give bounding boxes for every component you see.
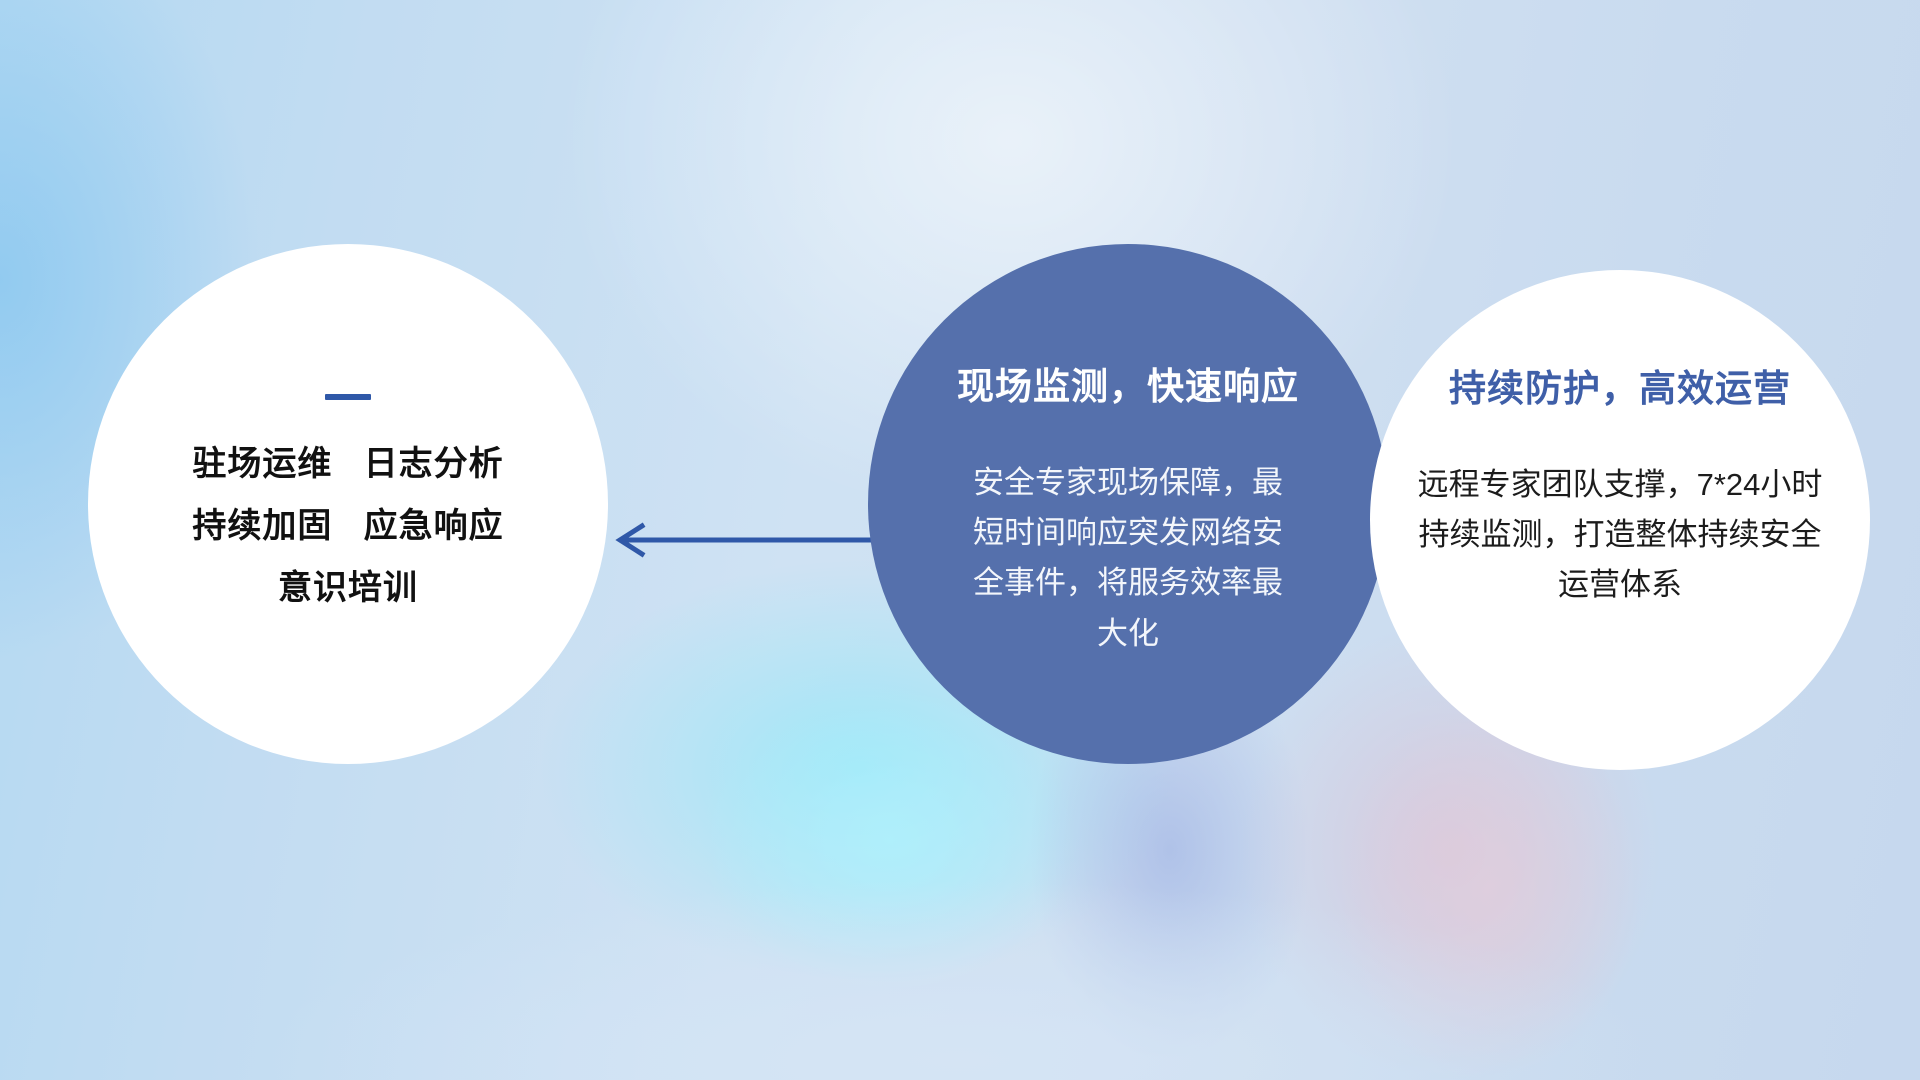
short-dash-icon [325,394,371,400]
list-item: 持续加固 应急响应 [192,496,503,558]
right-circle-body: 远程专家团队支撑，7*24小时持续监测，打造整体持续安全运营体系 [1410,460,1830,611]
arrow-left-icon [600,522,900,558]
middle-circle-body: 安全专家现场保障，最短时间响应突发网络安全事件，将服务效率最大化 [963,458,1293,659]
list-item: 驻场运维 日志分析 [192,434,503,496]
left-keyword-list: 驻场运维 日志分析 持续加固 应急响应 意识培训 [192,434,503,620]
slide-canvas: 驻场运维 日志分析 持续加固 应急响应 意识培训 现场监测，快速响应 安全专家现… [0,0,1920,1080]
right-continuous-protection-circle[interactable]: 持续防护，高效运营 远程专家团队支撑，7*24小时持续监测，打造整体持续安全运营… [1370,270,1870,770]
background-glow-bottom [260,880,1660,1080]
right-circle-title: 持续防护，高效运营 [1449,358,1791,412]
list-item: 意识培训 [192,558,503,620]
middle-circle-title: 现场监测，快速响应 [957,356,1299,410]
middle-onsite-monitoring-circle[interactable]: 现场监测，快速响应 安全专家现场保障，最短时间响应突发网络安全事件，将服务效率最… [868,244,1388,764]
left-capability-circle[interactable]: 驻场运维 日志分析 持续加固 应急响应 意识培训 [88,244,608,764]
